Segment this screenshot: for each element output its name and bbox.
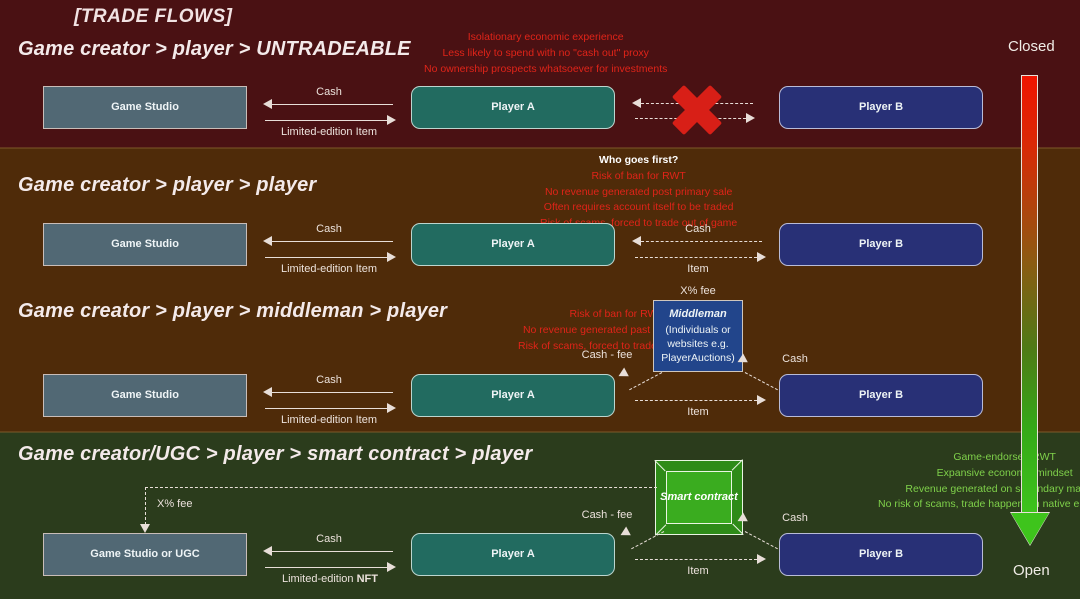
section-heading-smart-contract: Game creator/UGC > player > smart contra… bbox=[18, 443, 532, 466]
node-game-studio-ugc-row4[interactable]: Game Studio or UGC bbox=[43, 533, 247, 576]
arrow-head-fee-row4 bbox=[140, 524, 150, 533]
node-game-studio-row3[interactable]: Game Studio bbox=[43, 374, 247, 417]
trade-flows-diagram: [TRADE FLOWS] Game creator > player > UN… bbox=[0, 0, 1080, 599]
node-label: Game Studio or UGC bbox=[90, 547, 199, 562]
annotation-player-to-player: Who goes first? Risk of ban for RWT No r… bbox=[540, 153, 737, 232]
nft-label-prefix: Limited-edition bbox=[282, 573, 357, 585]
page-title: [TRADE FLOWS] bbox=[74, 6, 232, 28]
node-smart-contract[interactable]: Smart contract bbox=[655, 460, 743, 535]
section-heading-untradeable: Game creator > player > UNTRADEABLE bbox=[18, 38, 411, 61]
annotation-header: Who goes first? bbox=[540, 153, 737, 169]
arrow-line-fee-row4 bbox=[145, 487, 657, 488]
annotation-line: Game-endorsed RWT bbox=[878, 450, 1080, 466]
arrow-line-item-row2 bbox=[265, 257, 387, 258]
down-arrow-icon bbox=[1011, 513, 1049, 545]
arrow-label-item-row1: Limited-edition Item bbox=[264, 126, 394, 138]
arrow-label-item-secondary-row4: Item bbox=[633, 565, 763, 577]
section-heading-middleman: Game creator > player > middleman > play… bbox=[18, 300, 447, 323]
arrow-head-right-blocked-row1 bbox=[746, 113, 755, 123]
node-label: Game Studio bbox=[111, 388, 179, 403]
arrow-label-cash-in-row3: Cash bbox=[770, 353, 820, 365]
middleman-subtitle: (Individuals or websites e.g. PlayerAuct… bbox=[654, 323, 742, 366]
annotation-line: Risk of ban for RWT bbox=[540, 169, 737, 185]
arrow-head-left-row1 bbox=[263, 99, 272, 109]
annotation-line: Isolationary economic experience bbox=[424, 30, 667, 46]
node-player-b-row1[interactable]: Player B bbox=[779, 86, 983, 129]
middleman-title: Middleman bbox=[669, 307, 726, 322]
section-heading-player-to-player: Game creator > player > player bbox=[18, 174, 316, 197]
scale-label-closed: Closed bbox=[1008, 38, 1055, 55]
node-player-b-row3[interactable]: Player B bbox=[779, 374, 983, 417]
node-label: Player A bbox=[491, 388, 535, 403]
node-label: Player B bbox=[859, 547, 903, 562]
openness-scale-bar bbox=[1021, 75, 1038, 515]
annotation-smart-contract: Game-endorsed RWT Expansive economic min… bbox=[878, 450, 1080, 513]
arrow-label-item-secondary-row2: Item bbox=[633, 263, 763, 275]
scale-label-open: Open bbox=[1013, 562, 1050, 579]
arrow-line-item-secondary-row3 bbox=[635, 400, 757, 401]
annotation-line: Revenue generated on secondary markets bbox=[878, 482, 1080, 498]
arrow-label-item-row3: Limited-edition Item bbox=[264, 414, 394, 426]
arrow-head-left-row3 bbox=[263, 387, 272, 397]
arrow-line-cash-secondary-row2 bbox=[641, 241, 762, 242]
node-label: Game Studio bbox=[111, 100, 179, 115]
arrow-line-item-row1 bbox=[265, 120, 387, 121]
arrow-label-cash-fee-row4: Cash - fee bbox=[577, 509, 637, 521]
node-player-b-row2[interactable]: Player B bbox=[779, 223, 983, 266]
node-player-b-row4[interactable]: Player B bbox=[779, 533, 983, 576]
arrow-head-right-row4 bbox=[387, 562, 396, 572]
arrow-line-item-secondary-row2 bbox=[635, 257, 757, 258]
annotation-line: Expansive economic mindset bbox=[878, 466, 1080, 482]
band-divider-1 bbox=[0, 147, 1080, 149]
arrow-label-cash-in-row4: Cash bbox=[770, 512, 820, 524]
arrow-label-cash-row3: Cash bbox=[264, 374, 394, 386]
arrow-head-item-secondary-row4 bbox=[757, 554, 766, 564]
arrow-line-cash-row2 bbox=[272, 241, 393, 242]
band-divider-2 bbox=[0, 431, 1080, 433]
arrow-head-left-blocked-row1 bbox=[632, 98, 641, 108]
arrow-line-item-secondary-row4 bbox=[635, 559, 757, 560]
arrow-line-cash-row4 bbox=[272, 551, 393, 552]
annotation-line: Often requires account itself to be trad… bbox=[540, 200, 737, 216]
node-label: Player A bbox=[491, 237, 535, 252]
arrow-line-nft-row4 bbox=[265, 567, 387, 568]
nft-label-strong: NFT bbox=[357, 573, 378, 585]
arrow-head-item-secondary-row3 bbox=[757, 395, 766, 405]
arrow-line-cash-row1 bbox=[272, 104, 393, 105]
annotation-line: Less likely to spend with no "cash out" … bbox=[424, 46, 667, 62]
node-label: Player B bbox=[859, 388, 903, 403]
arrow-line-fee-vertical-row4 bbox=[145, 487, 146, 525]
node-player-a-row4[interactable]: Player A bbox=[411, 533, 615, 576]
node-player-a-row2[interactable]: Player A bbox=[411, 223, 615, 266]
arrow-label-cash-fee-row3: Cash - fee bbox=[577, 349, 637, 361]
red-x-icon bbox=[671, 84, 723, 136]
annotation-untradeable: Isolationary economic experience Less li… bbox=[424, 30, 667, 77]
annotation-line: No ownership prospects whatsoever for in… bbox=[424, 62, 667, 78]
node-label: Player B bbox=[859, 100, 903, 115]
arrow-head-right-row2 bbox=[387, 252, 396, 262]
arrow-label-item-row2: Limited-edition Item bbox=[264, 263, 394, 275]
node-label: Player B bbox=[859, 237, 903, 252]
arrow-line-cash-row3 bbox=[272, 392, 393, 393]
node-middleman[interactable]: Middleman (Individuals or websites e.g. … bbox=[653, 300, 743, 372]
node-label: Player A bbox=[491, 100, 535, 115]
arrow-label-item-secondary-row3: Item bbox=[633, 406, 763, 418]
node-label: Player A bbox=[491, 547, 535, 562]
annotation-line: No revenue generated post primary sale bbox=[540, 185, 737, 201]
arrow-line-item-row3 bbox=[265, 408, 387, 409]
annotation-line: No risk of scams, trade happens in nativ… bbox=[878, 497, 1080, 513]
node-player-a-row1[interactable]: Player A bbox=[411, 86, 615, 129]
arrow-head-right-row1 bbox=[387, 115, 396, 125]
node-player-a-row3[interactable]: Player A bbox=[411, 374, 615, 417]
smart-contract-label: Smart contract bbox=[655, 460, 743, 535]
arrow-head-left-row4 bbox=[263, 546, 272, 556]
arrow-label-cash-row1: Cash bbox=[264, 86, 394, 98]
node-label: Game Studio bbox=[111, 237, 179, 252]
node-game-studio-row2[interactable]: Game Studio bbox=[43, 223, 247, 266]
arrow-head-left-row2 bbox=[263, 236, 272, 246]
arrow-label-cash-row4: Cash bbox=[264, 533, 394, 545]
arrow-label-middleman-fee: X% fee bbox=[653, 285, 743, 297]
node-game-studio-row1[interactable]: Game Studio bbox=[43, 86, 247, 129]
arrow-head-right-row3 bbox=[387, 403, 396, 413]
arrow-label-cash-row2: Cash bbox=[264, 223, 394, 235]
arrow-head-left-secondary-row2 bbox=[632, 236, 641, 246]
arrow-head-right-secondary-row2 bbox=[757, 252, 766, 262]
arrow-label-fee-row4: X% fee bbox=[157, 498, 217, 510]
arrow-label-nft-row4: Limited-edition NFT bbox=[255, 573, 405, 585]
arrow-label-cash-secondary-row2: Cash bbox=[633, 223, 763, 235]
